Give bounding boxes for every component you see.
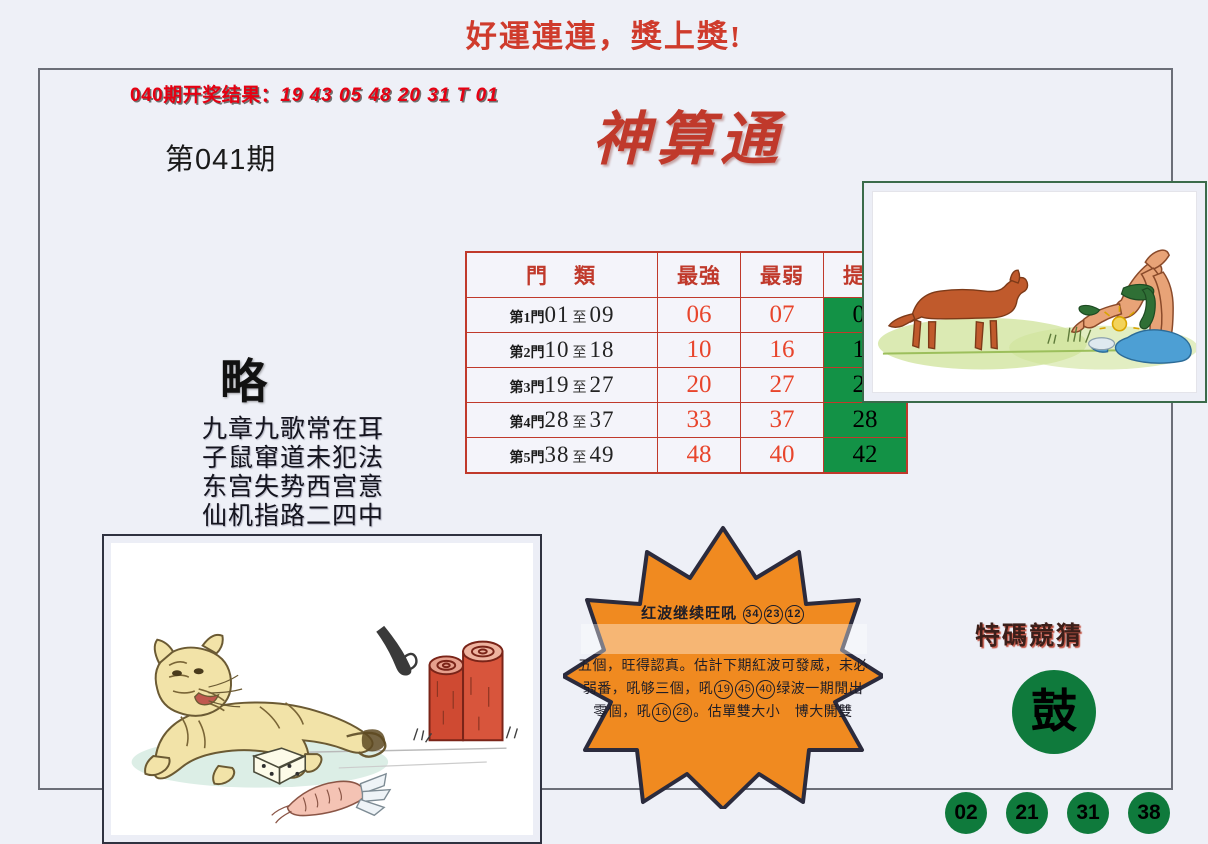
- prediction-table: 門 類 最強 最弱 提供 第1門01至09 06 07 05 第2門10至18 …: [465, 251, 908, 474]
- starburst-headline: 红波继续旺吼 342312: [563, 602, 883, 624]
- starburst-headline-ball: 23: [764, 605, 783, 624]
- cell-strongest: 33: [658, 403, 741, 438]
- special-guess-circle: 鼓: [1012, 670, 1096, 754]
- range-to: 27: [590, 372, 615, 397]
- starburst-headline-text: 红波继续旺吼: [641, 606, 737, 622]
- range-to: 49: [590, 442, 615, 467]
- range-from: 19: [545, 372, 570, 397]
- previous-draw-numbers: 19 43 05 48 20 31 T 01: [280, 85, 499, 106]
- poem-line: 东宫失势西宫意: [188, 473, 398, 502]
- dog-diver-illustration-svg: [873, 192, 1196, 392]
- cell-strongest: 48: [658, 438, 741, 474]
- issue-number: 第041期: [165, 136, 276, 178]
- starburst-line2-ball: 40: [756, 680, 775, 699]
- gate-label: 第4門: [510, 416, 545, 431]
- brand-logo: 神算通: [548, 92, 828, 176]
- starburst-text: 红波继续旺吼 342312 五個，旺得認真。估計下期紅波可發威，未必 弱番，吼够…: [563, 524, 883, 809]
- cell-range: 第1門01至09: [466, 298, 658, 333]
- illustration-dog-diver-frame: [862, 181, 1207, 403]
- starburst-line3-ball: 28: [673, 703, 692, 722]
- table-row: 第3門19至27 20 27 23: [466, 368, 907, 403]
- column-header-strongest: 最強: [658, 252, 741, 298]
- gate-label: 第1門: [510, 311, 545, 326]
- range-sep: 至: [570, 451, 590, 466]
- starburst-line3-pre: 零個，吼: [593, 705, 651, 720]
- starburst-line-2: 弱番，吼够三個，吼194540绿波一期閒出: [577, 678, 869, 701]
- cell-strongest: 10: [658, 333, 741, 368]
- table-row: 第4門28至37 33 37 28: [466, 403, 907, 438]
- range-sep: 至: [570, 381, 590, 396]
- predicted-number-ball: 21: [1006, 792, 1048, 834]
- gate-label: 第2門: [510, 346, 545, 361]
- poem-line: 子鼠窜道未犯法: [188, 444, 398, 473]
- tiger-illustration-svg: [111, 543, 533, 835]
- starburst-line2-ball: 45: [735, 680, 754, 699]
- predicted-number-ball: 02: [945, 792, 987, 834]
- range-sep: 至: [570, 346, 590, 361]
- top-banner: 好運連連，獎上獎!: [0, 0, 1208, 66]
- table-row: 第1門01至09 06 07 05: [466, 298, 907, 333]
- cell-weakest: 27: [741, 368, 824, 403]
- gate-label: 第3門: [510, 381, 545, 396]
- previous-draw-result: 040期开奖结果：19 43 05 48 20 31 T 01: [130, 80, 499, 107]
- range-to: 18: [590, 337, 615, 362]
- table-row: 第2門10至18 10 16 14: [466, 333, 907, 368]
- starburst-line2-post: 绿波一期閒出: [776, 682, 863, 697]
- cell-strongest: 06: [658, 298, 741, 333]
- starburst-body: 五個，旺得認真。估計下期紅波可發威，未必 弱番，吼够三個，吼194540绿波一期…: [577, 655, 869, 724]
- range-to: 09: [590, 302, 615, 327]
- table-row: 第5門38至49 48 40 42: [466, 438, 907, 474]
- illustration-tiger: [111, 543, 533, 835]
- predicted-number-ball: 38: [1128, 792, 1170, 834]
- banner-slogan: 好運連連，獎上獎!: [466, 11, 742, 56]
- cell-weakest: 40: [741, 438, 824, 474]
- main-panel: 040期开奖结果：19 43 05 48 20 31 T 01 第041期 神算…: [38, 68, 1173, 790]
- cell-strongest: 20: [658, 368, 741, 403]
- starburst-line2-pre: 弱番，吼够三個，吼: [583, 682, 714, 697]
- column-header-weakest: 最弱: [741, 252, 824, 298]
- starburst-headline-ball: 34: [743, 605, 762, 624]
- range-sep: 至: [570, 311, 590, 326]
- forecast-starburst: 红波继续旺吼 342312 五個，旺得認真。估計下期紅波可發威，未必 弱番，吼够…: [563, 524, 883, 809]
- illustration-dog-diver: [872, 191, 1197, 393]
- cell-range: 第3門19至27: [466, 368, 658, 403]
- cell-weakest: 16: [741, 333, 824, 368]
- previous-draw-label: 040期开奖结果：: [130, 85, 280, 106]
- poem-block: 九章九歌常在耳 子鼠窜道未犯法 东宫失势西宫意 仙机指路二四中: [188, 415, 398, 531]
- poem-line: 九章九歌常在耳: [188, 415, 398, 444]
- brand-title: 神算通: [548, 92, 828, 176]
- starburst-line2-ball: 19: [714, 680, 733, 699]
- cell-weakest: 37: [741, 403, 824, 438]
- special-guess-title: 特碼競猜: [975, 616, 1083, 652]
- cell-supply: 28: [824, 403, 908, 438]
- range-from: 01: [545, 302, 570, 327]
- column-header-category: 門 類: [466, 252, 658, 298]
- table-header-row: 門 類 最強 最弱 提供: [466, 252, 907, 298]
- predicted-number-ball: 31: [1067, 792, 1109, 834]
- predicted-numbers-row: 02 21 31 38: [945, 792, 1175, 836]
- cell-supply: 42: [824, 438, 908, 474]
- range-from: 38: [545, 442, 570, 467]
- starburst-line3-ball: 16: [652, 703, 671, 722]
- cell-range: 第5門38至49: [466, 438, 658, 474]
- cell-weakest: 07: [741, 298, 824, 333]
- starburst-line-1: 五個，旺得認真。估計下期紅波可發威，未必: [577, 655, 869, 678]
- gate-label: 第5門: [510, 451, 545, 466]
- range-from: 10: [545, 337, 570, 362]
- illustration-tiger-frame: [102, 534, 542, 844]
- starburst-headline-ball: 12: [785, 605, 804, 624]
- starburst-line-3: 零個，吼1628。估單雙大小 博大開雙: [577, 701, 869, 724]
- starburst-line3-post: 。估單雙大小 博大開雙: [693, 705, 853, 720]
- range-sep: 至: [570, 416, 590, 431]
- strategy-title-char: 略: [220, 343, 267, 412]
- range-to: 37: [590, 407, 615, 432]
- special-guess-char: 鼓: [1031, 689, 1077, 735]
- range-from: 28: [545, 407, 570, 432]
- cell-range: 第2門10至18: [466, 333, 658, 368]
- cell-range: 第4門28至37: [466, 403, 658, 438]
- poem-line: 仙机指路二四中: [188, 502, 398, 531]
